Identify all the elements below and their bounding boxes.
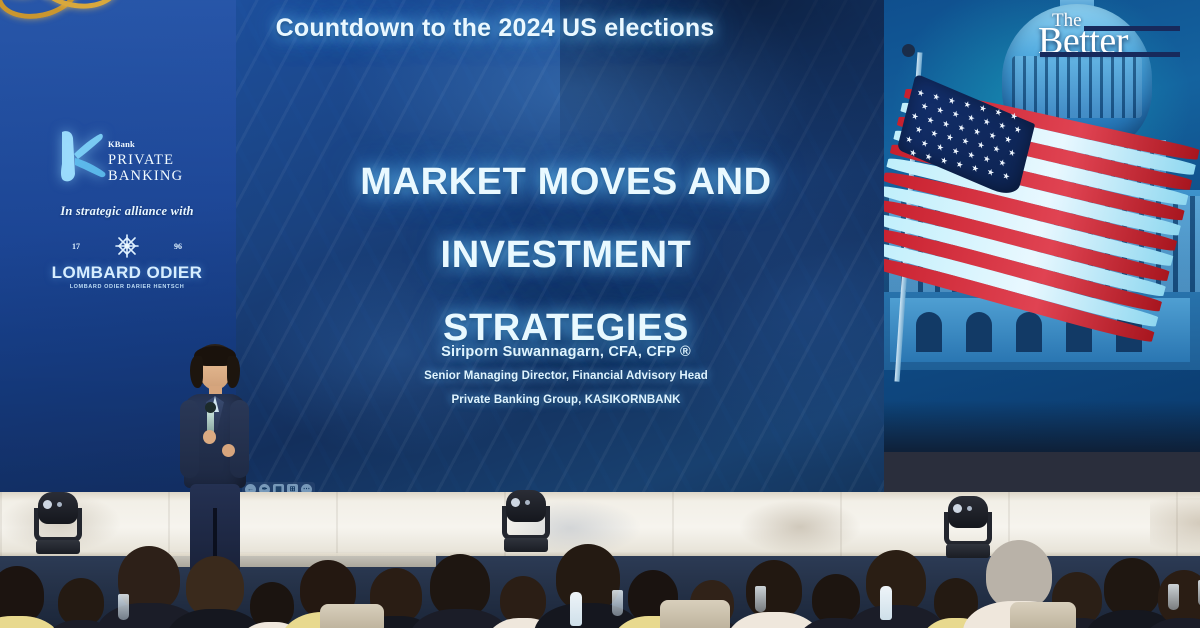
snowflake-icon	[114, 233, 140, 264]
chair-back	[320, 604, 384, 628]
audience-member	[866, 550, 926, 613]
wine-glass	[755, 586, 766, 612]
lombard-odier-tagline: LOMBARD ODIER DARIER HENTSCH	[42, 284, 212, 290]
alliance-text: In strategic alliance with	[42, 204, 212, 219]
speaker-credits: Siriporn Suwannagarn, CFA, CFP ® Senior …	[236, 342, 896, 412]
wine-glass	[1168, 584, 1179, 610]
slide-kicker: Countdown to the 2024 US elections	[0, 14, 1200, 43]
kbank-private-label: PRIVATE	[108, 152, 183, 168]
audience-member	[250, 582, 294, 628]
water-bottle	[880, 586, 892, 620]
speaker-role: Senior Managing Director, Financial Advi…	[236, 364, 896, 388]
kbank-banking-label: BANKING	[108, 168, 183, 184]
audience-member	[986, 540, 1052, 609]
chandelier	[0, 0, 136, 54]
lombard-snowflake-row: 17	[42, 233, 212, 261]
zoom-icon[interactable]: ⊞	[287, 484, 298, 492]
lombard-year-left: 17	[72, 242, 80, 251]
wine-glass	[612, 590, 623, 616]
audience-member	[186, 556, 244, 617]
sponsor-logo-lockup: KBank PRIVATE BANKING In strategic allia…	[42, 124, 212, 290]
slide-navigator-icon[interactable]: ▦	[273, 484, 284, 492]
lombard-odier-logo: 17	[42, 233, 212, 290]
capitol-flag-illustration	[884, 0, 1200, 455]
kbank-private-banking-logo: KBank PRIVATE BANKING	[42, 124, 212, 190]
wine-glass	[118, 594, 129, 620]
water-bottle	[570, 592, 582, 626]
chair-back	[660, 600, 730, 628]
audience	[0, 520, 1200, 628]
kbank-k-mark-icon	[48, 126, 110, 188]
conference-photo: Countdown to the 2024 US elections MARKE…	[0, 0, 1200, 628]
lombard-odier-wordmark: LOMBARD ODIER	[42, 263, 212, 283]
chair-back	[1010, 602, 1076, 628]
watermark-bar-bottom	[1040, 52, 1180, 57]
speaker-name: Siriporn Suwannagarn, CFA, CFP ®	[236, 342, 896, 364]
the-better-watermark: The Better	[1032, 4, 1182, 66]
audience-member	[430, 554, 490, 617]
speaker-organization: Private Banking Group, KASIKORNBANK	[236, 388, 896, 412]
more-options-icon[interactable]: ⋯	[301, 484, 312, 492]
audience-member	[1104, 558, 1160, 617]
lombard-year-right: 96	[174, 242, 182, 251]
audience-member	[1158, 570, 1200, 625]
slide-title: MARKET MOVES AND INVESTMENT STRATEGIES	[236, 146, 896, 365]
flag-pole-finial	[902, 44, 915, 57]
audience-member	[58, 578, 104, 626]
audience-member	[556, 544, 620, 611]
slide-title-line-1: MARKET MOVES AND INVESTMENT	[236, 146, 896, 292]
kbank-wordmark: KBank PRIVATE BANKING	[108, 134, 183, 184]
kbank-brand-label: KBank	[108, 139, 135, 149]
audience-member	[0, 566, 44, 623]
audience-member	[500, 576, 546, 624]
screen-lower-dark-band	[884, 452, 1200, 492]
